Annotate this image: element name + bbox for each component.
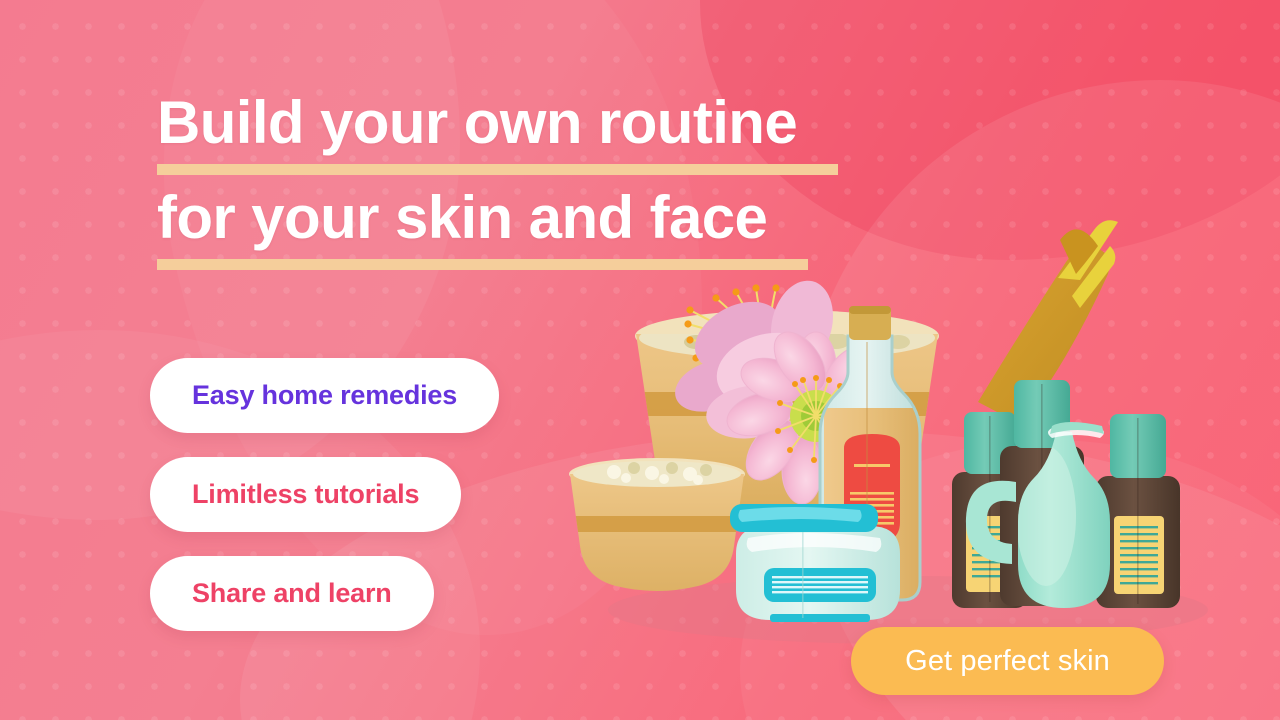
feature-label: Share and learn [192,578,392,609]
cream-jar-label [764,568,876,602]
small-oats-bowl [568,458,750,602]
headline-underline-2 [157,259,808,270]
get-perfect-skin-button[interactable]: Get perfect skin [851,627,1164,695]
headline-line-1: Build your own routine [157,92,857,154]
promo-banner: Build your own routine for your skin and… [0,0,1280,720]
headline-underline-1 [157,164,838,175]
feature-label: Easy home remedies [192,380,457,411]
feature-pill-share-and-learn[interactable]: Share and learn [150,556,434,631]
headline-block: Build your own routine for your skin and… [157,92,857,282]
feature-pill-limitless-tutorials[interactable]: Limitless tutorials [150,457,461,532]
small-bowl-grains [573,461,741,487]
feature-pill-easy-home-remedies[interactable]: Easy home remedies [150,358,499,433]
cream-jar [730,504,900,622]
feature-list: Easy home remedies Limitless tutorials S… [150,358,499,631]
headline-line-2: for your skin and face [157,187,857,249]
feature-label: Limitless tutorials [192,479,419,510]
